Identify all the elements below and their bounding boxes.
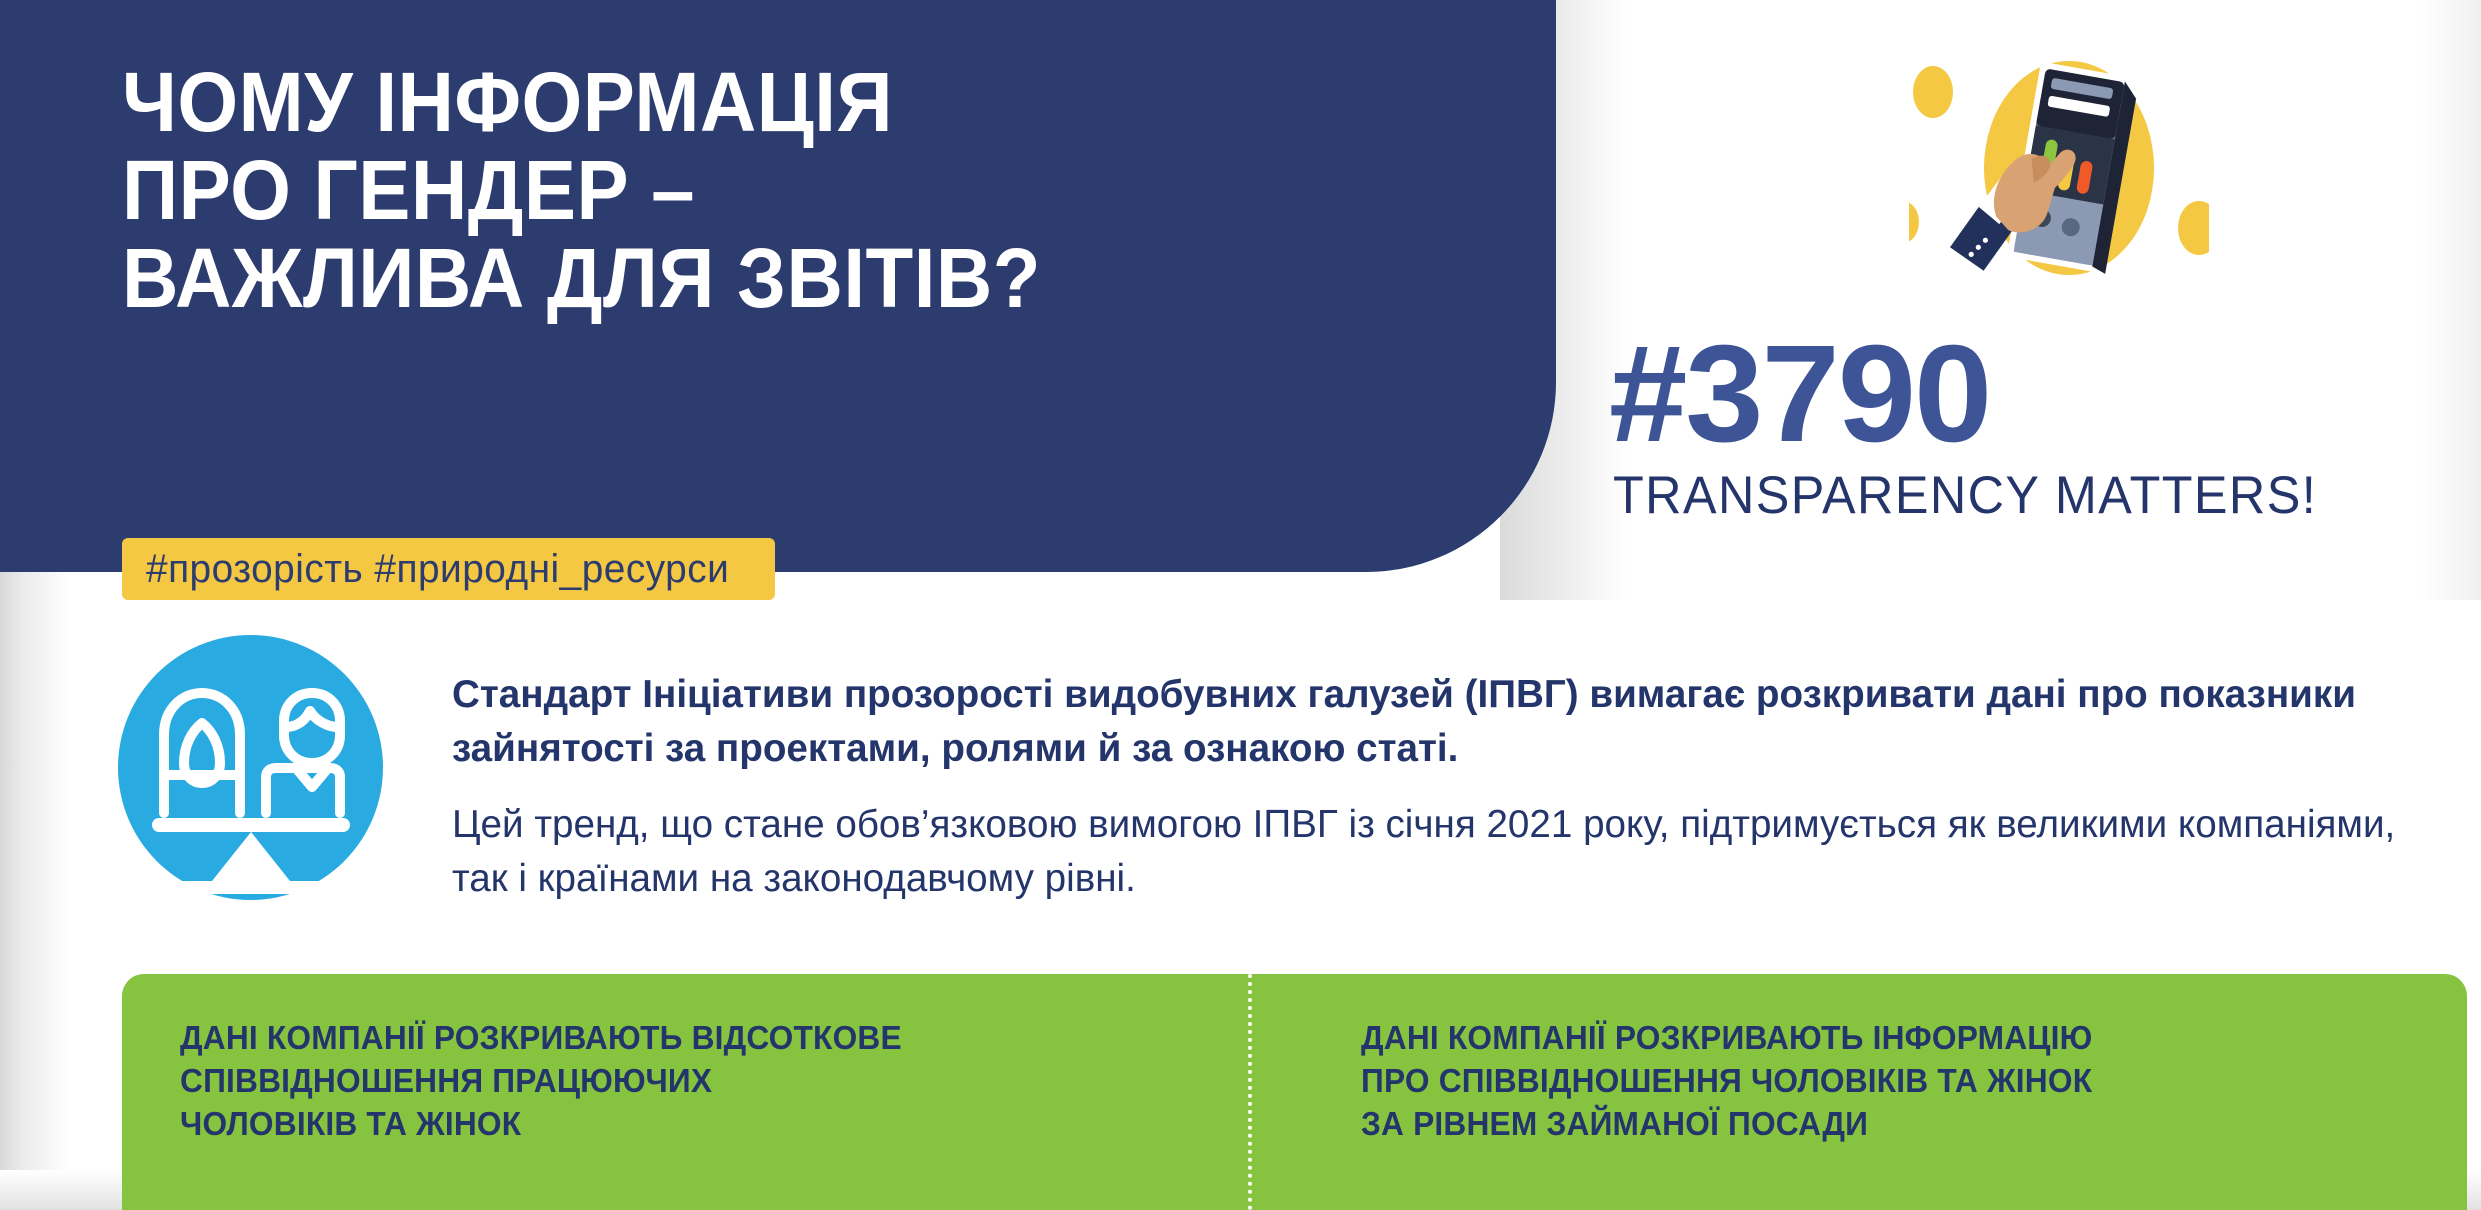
brand-logo-block: #3790 TRANSPARENCY MATTERS!: [1591, 30, 2471, 590]
card2-line-1: ДАНІ КОМПАНІЇ РОЗКРИВАЮТЬ ІНФОРМАЦІЮ: [1361, 1016, 2394, 1059]
card-percentage-ratio-text: ДАНІ КОМПАНІЇ РОЗКРИВАЮТЬ ВІДСОТКОВЕ СПІ…: [180, 1016, 1221, 1145]
title-line-2: ПРО ГЕНДЕР –: [122, 146, 1387, 234]
hashtag-band: #прозорість #природні_ресурси: [122, 538, 775, 600]
logo-tagline: TRANSPARENCY MATTERS!: [1613, 468, 2430, 524]
page-title: ЧОМУ ІНФОРМАЦІЯ ПРО ГЕНДЕР – ВАЖЛИВА ДЛЯ…: [122, 58, 1482, 322]
card1-line-1: ДАНІ КОМПАНІЇ РОЗКРИВАЮТЬ ВІДСОТКОВЕ: [180, 1016, 1221, 1059]
paragraph-standard-requirement: Стандарт Ініціативи прозорості видобувни…: [452, 668, 2437, 776]
hand-tapping-data-device-icon: [1909, 40, 2209, 310]
card1-line-2: СПІВВІДНОШЕННЯ ПРАЦЮЮЧИХ: [180, 1059, 1221, 1102]
title-line-3: ВАЖЛИВА ДЛЯ ЗВІТІВ?: [122, 234, 1387, 322]
paragraph-trend: Цей тренд, що стане обов’язковою вимогою…: [452, 798, 2437, 906]
card1-line-3: ЧОЛОВІКІВ ТА ЖІНОК: [180, 1102, 1221, 1145]
card-percentage-ratio: ДАНІ КОМПАНІЇ РОЗКРИВАЮТЬ ВІДСОТКОВЕ СПІ…: [122, 974, 1295, 1210]
green-cards-panel: ДАНІ КОМПАНІЇ РОЗКРИВАЮТЬ ВІДСОТКОВЕ СПІ…: [122, 974, 2467, 1210]
logo-number: #3790: [1609, 325, 2481, 463]
hashtag-label: #прозорість #природні_ресурси: [146, 547, 729, 592]
card2-line-2: ПРО СПІВВІДНОШЕННЯ ЧОЛОВІКІВ ТА ЖІНОК: [1361, 1059, 2394, 1102]
title-line-1: ЧОМУ ІНФОРМАЦІЯ: [122, 58, 1387, 146]
card-position-level: ДАНІ КОМПАНІЇ РОЗКРИВАЮТЬ ІНФОРМАЦІЮ ПРО…: [1295, 974, 2468, 1210]
cards-dotted-divider: [1248, 974, 1252, 1210]
card2-line-3: ЗА РІВНЕМ ЗАЙМАНОЇ ПОСАДИ: [1361, 1102, 2394, 1145]
body-copy: Стандарт Ініціативи прозорості видобувни…: [452, 668, 2457, 906]
infographic-canvas: ЧОМУ ІНФОРМАЦІЯ ПРО ГЕНДЕР – ВАЖЛИВА ДЛЯ…: [0, 0, 2481, 1210]
card-position-level-text: ДАНІ КОМПАНІЇ РОЗКРИВАЮТЬ ІНФОРМАЦІЮ ПРО…: [1361, 1016, 2394, 1145]
gender-balance-scale-icon: [118, 635, 383, 900]
